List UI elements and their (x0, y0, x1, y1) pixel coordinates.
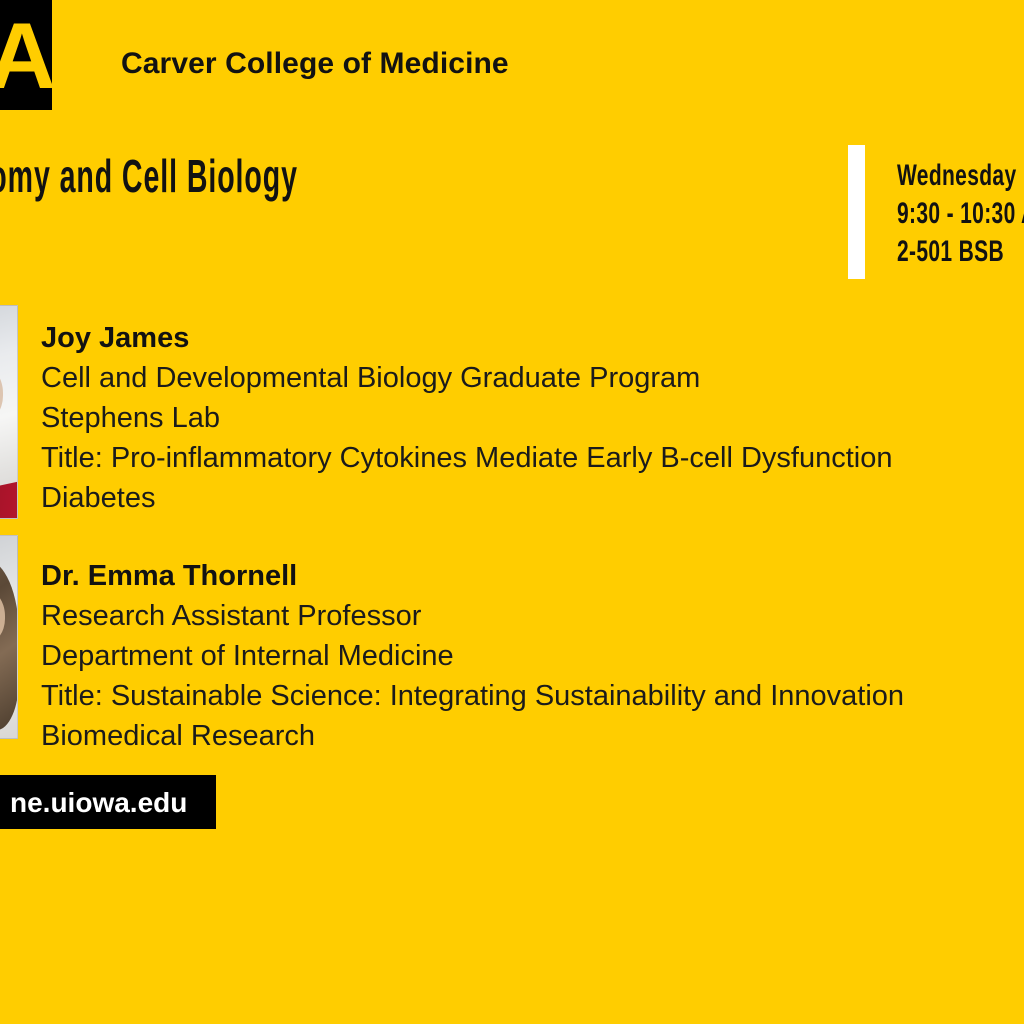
speaker-2-line-1: Research Assistant Professor (41, 596, 904, 636)
speaker-2-name: Dr. Emma Thornell (41, 556, 904, 596)
speaker-1-line-2: Stephens Lab (41, 398, 892, 438)
speaker-1-line-1: Cell and Developmental Biology Graduate … (41, 358, 892, 398)
speaker-1-name: Joy James (41, 318, 892, 358)
website-url-bar[interactable]: ne.uiowa.edu (0, 775, 216, 829)
logo-letter-a: A (0, 4, 52, 108)
website-url-text: ne.uiowa.edu (10, 787, 187, 819)
seminar-poster: A Carver College of Medicine nt of Anato… (0, 0, 1024, 1024)
schedule-time: 9:30 - 10:30 A (897, 195, 1024, 233)
speaker-2-title-line-1: Title: Sustainable Science: Integrating … (41, 676, 904, 716)
speaker-2-title-line-2: Biomedical Research (41, 716, 904, 756)
speaker-photo-2 (0, 535, 18, 739)
speaker-photo-1 (0, 305, 18, 519)
speaker-photo-2-hair (0, 560, 18, 730)
schedule-block: Wednesday 9:30 - 10:30 A 2-501 BSB (897, 157, 1024, 271)
schedule-day: Wednesday (897, 157, 1024, 195)
department-title-line1: nt of Anatomy and Cell Biology (0, 148, 298, 204)
speaker-photo-1-face (0, 364, 3, 422)
university-logo: A (0, 0, 52, 110)
vertical-divider (848, 145, 865, 279)
speaker-block-2: Dr. Emma Thornell Research Assistant Pro… (41, 556, 904, 756)
speaker-photo-1-shirt (0, 476, 17, 518)
speaker-1-title-line-1: Title: Pro-inflammatory Cytokines Mediat… (41, 438, 892, 478)
speaker-2-line-2: Department of Internal Medicine (41, 636, 904, 676)
schedule-room: 2-501 BSB (897, 233, 1024, 271)
speaker-block-1: Joy James Cell and Developmental Biology… (41, 318, 892, 518)
speaker-1-title-line-2: Diabetes (41, 478, 892, 518)
college-name: Carver College of Medicine (121, 45, 509, 83)
